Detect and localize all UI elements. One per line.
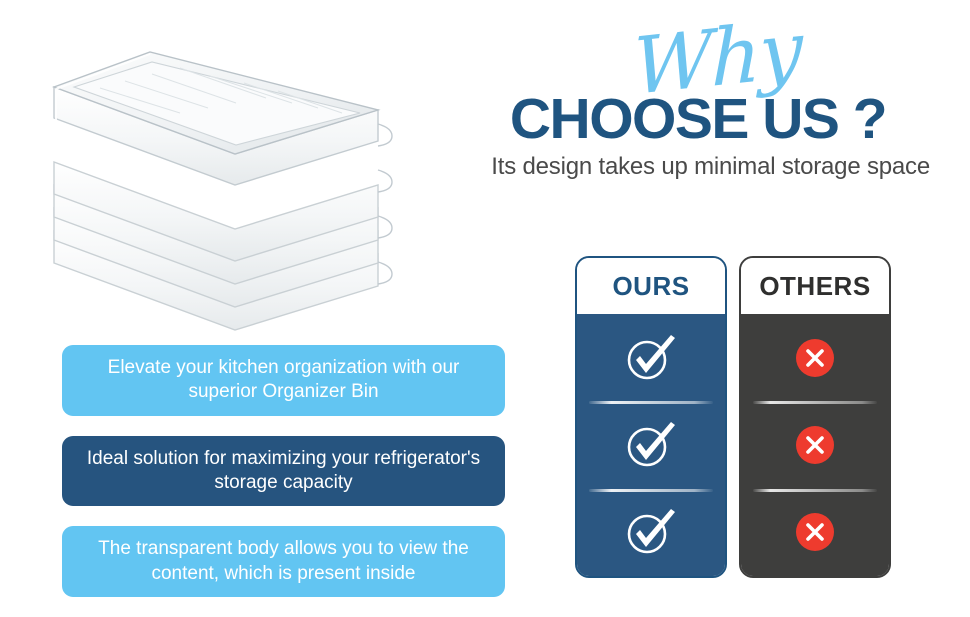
comparison-column-ours: OURS bbox=[575, 256, 727, 578]
check-icon bbox=[623, 333, 679, 383]
feature-text: The transparent body allows you to view … bbox=[76, 537, 491, 586]
comparison-column-others: OTHERS bbox=[739, 256, 891, 578]
cross-icon bbox=[796, 513, 834, 551]
cross-icon bbox=[796, 339, 834, 377]
column-body-others bbox=[741, 314, 889, 576]
feature-text: Elevate your kitchen organization with o… bbox=[76, 356, 491, 405]
comparison-table: OURS bbox=[575, 256, 891, 578]
table-row bbox=[577, 489, 725, 576]
column-header-ours: OURS bbox=[577, 258, 725, 314]
table-row bbox=[577, 401, 725, 488]
table-row bbox=[577, 314, 725, 401]
check-icon bbox=[623, 420, 679, 470]
feature-list: Elevate your kitchen organization with o… bbox=[62, 345, 505, 617]
table-row bbox=[741, 314, 889, 401]
table-row bbox=[741, 489, 889, 576]
product-image bbox=[30, 18, 430, 348]
feature-text: Ideal solution for maximizing your refri… bbox=[76, 447, 491, 496]
check-icon bbox=[623, 507, 679, 557]
headline-block: Why CHOOSE US ? Its design takes up mini… bbox=[470, 22, 930, 181]
page-subtitle: Its design takes up minimal storage spac… bbox=[470, 152, 930, 181]
feature-box-1: Elevate your kitchen organization with o… bbox=[62, 345, 505, 416]
table-row bbox=[741, 401, 889, 488]
feature-box-2: Ideal solution for maximizing your refri… bbox=[62, 436, 505, 507]
feature-box-3: The transparent body allows you to view … bbox=[62, 526, 505, 597]
cross-icon bbox=[796, 426, 834, 464]
column-body-ours bbox=[577, 314, 725, 576]
column-header-others: OTHERS bbox=[741, 258, 889, 314]
